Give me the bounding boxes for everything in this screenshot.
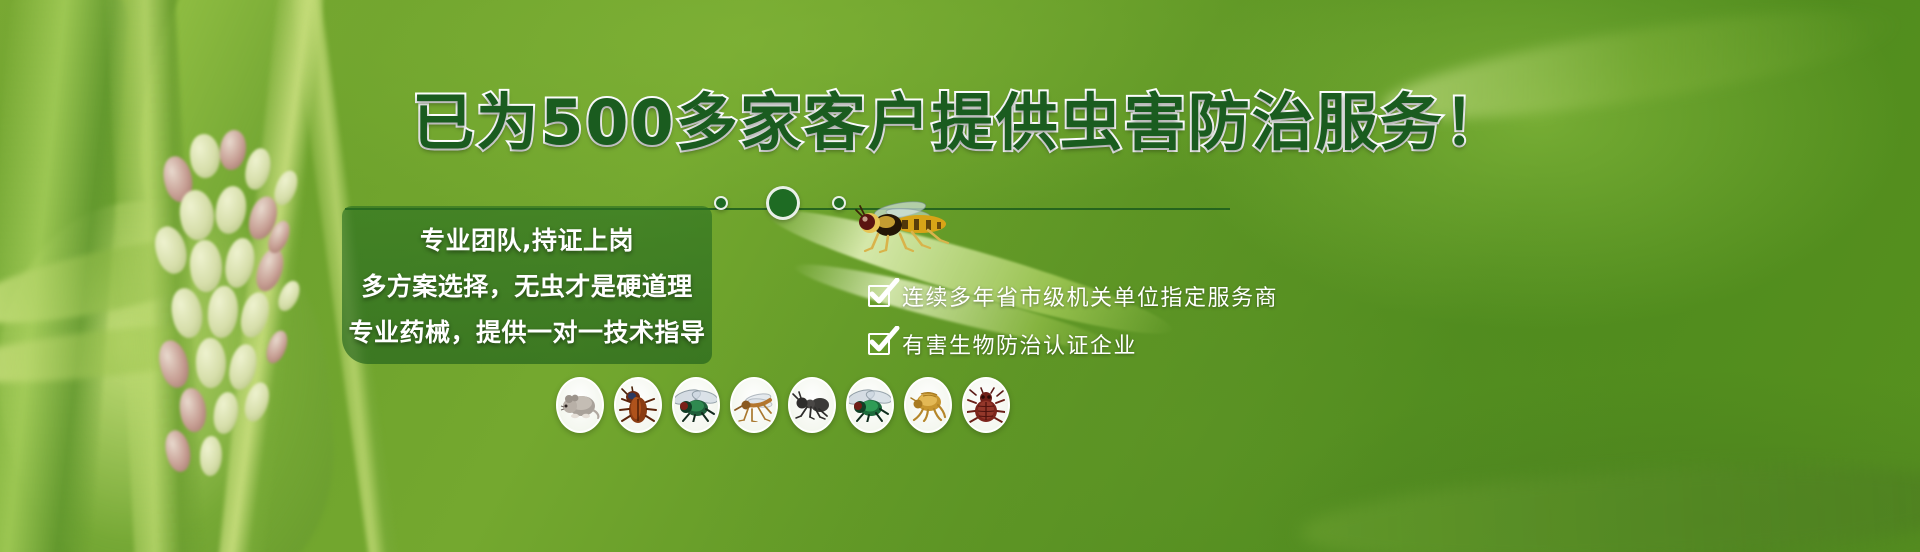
certification-label: 有害生物防治认证企业 (902, 328, 1137, 360)
plant-bud (212, 391, 240, 435)
decorative-dot-left-icon (714, 196, 728, 210)
plant-bud (271, 168, 301, 208)
selling-point-3: 专业药械，提供一对一技术指导 (348, 313, 705, 349)
decorative-dot-center-icon (766, 186, 800, 220)
plant-bud (154, 337, 194, 391)
plant-bud (238, 290, 273, 340)
certification-list: 连续多年省市级机关单位指定服务商 有害生物防治认证企业 (868, 272, 1328, 368)
cockroach-icon (614, 377, 662, 433)
certification-label: 连续多年省市级机关单位指定服务商 (902, 280, 1278, 312)
plant-bud (275, 278, 304, 314)
decorative-dot-right-icon (832, 196, 846, 210)
banner-headline-text: 已为500多家客户提供虫害防治服务！ (412, 86, 1507, 159)
plant-bud (167, 285, 207, 340)
certification-item: 连续多年省市级机关单位指定服务商 (868, 272, 1328, 320)
pest-icon-row (556, 376, 1026, 434)
plant-bud (263, 328, 291, 366)
plant-bud (194, 337, 227, 389)
selling-point-2: 多方案选择，无虫才是硬道理 (361, 267, 693, 303)
bedbug-icon (962, 377, 1010, 433)
banner-headline: 已为500多家客户提供虫害防治服务！ (0, 72, 1920, 162)
plant-bud (214, 185, 249, 236)
selling-point-1: 专业团队,持证上岗 (420, 221, 634, 257)
mosquito-icon (730, 377, 778, 433)
plant-bud (161, 428, 194, 475)
checkbox-checked-icon (868, 285, 890, 307)
plant-bud (187, 238, 224, 293)
plant-bud (176, 386, 209, 434)
rodent-icon (556, 377, 604, 433)
ant-icon (788, 377, 836, 433)
flea-icon (904, 377, 952, 433)
certification-item: 有害生物防治认证企业 (868, 320, 1328, 368)
blowfly-icon (846, 377, 894, 433)
housefly-icon (672, 377, 720, 433)
plant-bud (207, 285, 239, 338)
promo-banner: 已为500多家客户提供虫害防治服务！ 专业团队,持证上岗 多方案选择，无虫才是硬… (0, 0, 1920, 552)
selling-points-list: 专业团队,持证上岗 多方案选择，无虫才是硬道理 专业药械，提供一对一技术指导 (342, 206, 712, 364)
checkbox-checked-icon (868, 333, 890, 355)
hoverfly-icon (848, 198, 958, 254)
plant-bud (223, 236, 258, 289)
